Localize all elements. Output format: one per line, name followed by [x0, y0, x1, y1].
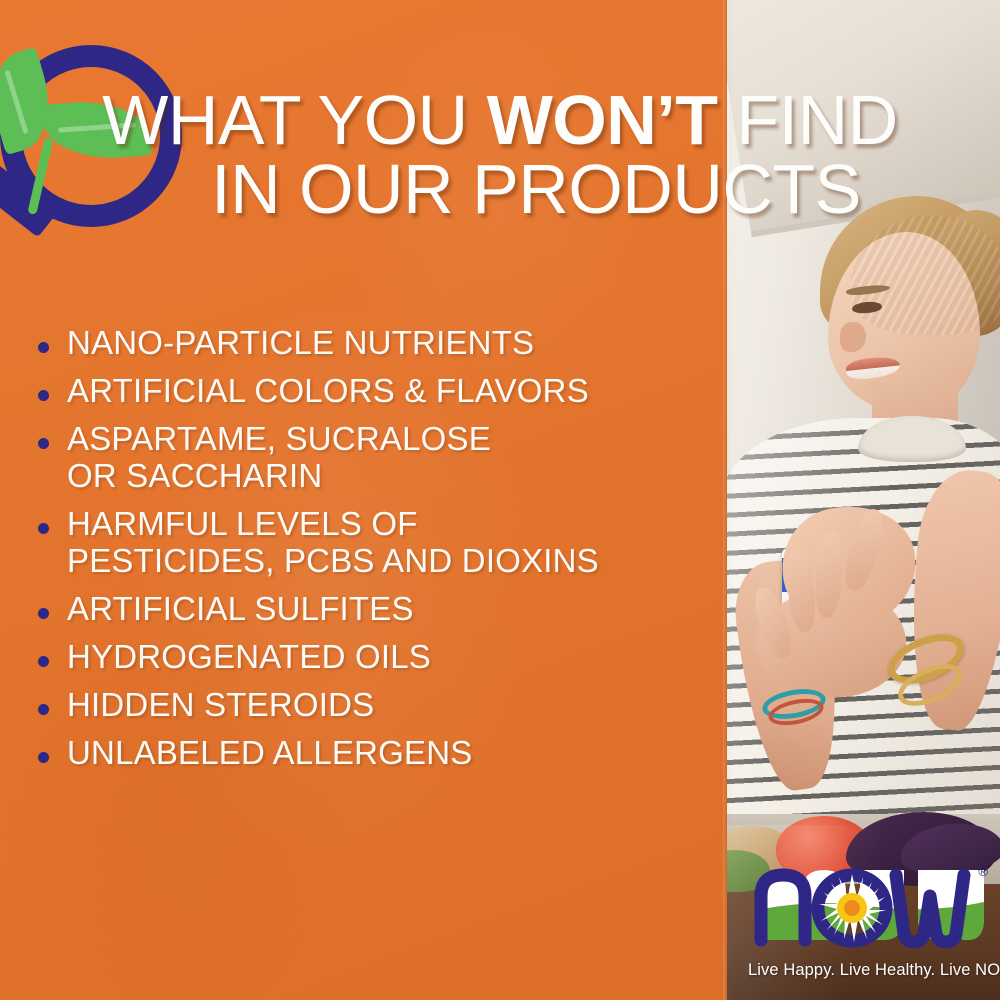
- bullet-dot-icon: [38, 704, 49, 715]
- list-item-label: UNLABELED ALLERGENS: [67, 735, 472, 772]
- list-item-label: HARMFUL LEVELS OF PESTICIDES, PCBS AND D…: [67, 506, 599, 580]
- list-item: HARMFUL LEVELS OF PESTICIDES, PCBS AND D…: [38, 506, 728, 580]
- bullet-dot-icon: [38, 390, 49, 401]
- now-wordmark: [748, 862, 984, 948]
- bullet-dot-icon: [38, 752, 49, 763]
- registered-trademark: ®: [978, 864, 988, 879]
- list-item: ARTIFICIAL COLORS & FLAVORS: [38, 373, 728, 410]
- list-item-label: ARTIFICIAL SULFITES: [67, 591, 414, 628]
- excluded-ingredients-list: NANO-PARTICLE NUTRIENTS ARTIFICIAL COLOR…: [38, 325, 728, 783]
- bullet-dot-icon: [38, 523, 49, 534]
- headline-line-2: IN OUR PRODUCTS: [0, 155, 960, 224]
- list-item-label: HYDROGENATED OILS: [67, 639, 431, 676]
- bullet-dot-icon: [38, 656, 49, 667]
- list-item-label: HIDDEN STEROIDS: [67, 687, 374, 724]
- list-item-label: ASPARTAME, SUCRALOSE OR SACCHARIN: [67, 421, 491, 495]
- list-item: HYDROGENATED OILS: [38, 639, 728, 676]
- promotional-graphic: WHAT YOU WON’T FIND IN OUR PRODUCTS NANO…: [0, 0, 1000, 1000]
- list-item-label: ARTIFICIAL COLORS & FLAVORS: [67, 373, 589, 410]
- list-item: UNLABELED ALLERGENS: [38, 735, 728, 772]
- headline-suffix: FIND: [717, 81, 897, 159]
- list-item: HIDDEN STEROIDS: [38, 687, 728, 724]
- list-item: ARTIFICIAL SULFITES: [38, 591, 728, 628]
- list-item-label: NANO-PARTICLE NUTRIENTS: [67, 325, 534, 362]
- page-title: WHAT YOU WON’T FIND IN OUR PRODUCTS: [0, 86, 960, 223]
- list-item: ASPARTAME, SUCRALOSE OR SACCHARIN: [38, 421, 728, 495]
- bullet-dot-icon: [38, 438, 49, 449]
- brand-tagline: Live Happy. Live Healthy. Live NOW.: [748, 961, 984, 980]
- logo-mark: ®: [748, 862, 984, 946]
- now-foods-logo: ® Live Happy. Live Healthy. Live NOW.: [748, 862, 988, 978]
- bullet-dot-icon: [38, 608, 49, 619]
- bullet-dot-icon: [38, 342, 49, 353]
- list-item: NANO-PARTICLE NUTRIENTS: [38, 325, 728, 362]
- headline-prefix: WHAT YOU: [102, 81, 486, 159]
- headline-emphasis: WON’T: [487, 81, 718, 159]
- headline-line-1: WHAT YOU WON’T FIND: [0, 86, 960, 155]
